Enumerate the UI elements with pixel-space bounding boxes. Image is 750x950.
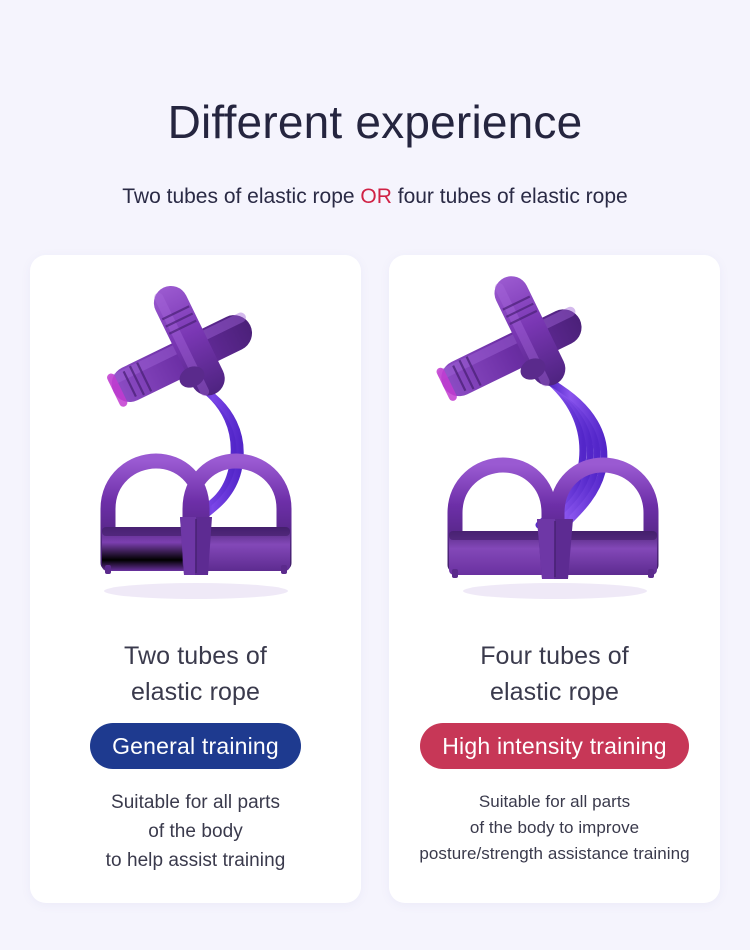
card-title-line-2: elastic rope [124, 675, 267, 711]
product-card-four-tubes[interactable]: Four tubes of elastic rope High intensit… [389, 255, 720, 903]
product-comparison-page: Different experience Two tubes of elasti… [0, 0, 750, 950]
comparison-cards: Two tubes of elastic rope General traini… [30, 255, 720, 903]
product-image-two-tubes [46, 273, 346, 633]
card-title-line-1: Four tubes of [480, 639, 629, 675]
badge-high-intensity-training[interactable]: High intensity training [420, 723, 689, 769]
subtitle-text-before: Two tubes of elastic rope [122, 185, 360, 208]
card-title-line-2: elastic rope [480, 675, 629, 711]
page-title: Different experience [0, 97, 750, 148]
product-card-two-tubes[interactable]: Two tubes of elastic rope General traini… [30, 255, 361, 903]
product-image-four-tubes [405, 273, 705, 633]
card-description-four-tubes: Suitable for all parts of the body to im… [411, 789, 697, 866]
subtitle-or-highlight: OR [360, 185, 392, 208]
badge-general-training[interactable]: General training [90, 723, 301, 769]
center-connector [537, 519, 573, 579]
subtitle-text-after: four tubes of elastic rope [392, 185, 628, 208]
desc-line-3: to help assist training [106, 847, 286, 876]
desc-line-1: Suitable for all parts [419, 789, 689, 815]
card-title-two-tubes: Two tubes of elastic rope [124, 639, 267, 710]
card-title-line-1: Two tubes of [124, 639, 267, 675]
card-title-four-tubes: Four tubes of elastic rope [480, 639, 629, 710]
page-header: Different experience Two tubes of elasti… [0, 0, 750, 209]
desc-line-2: of the body to improve [419, 815, 689, 841]
desc-line-2: of the body [106, 818, 286, 847]
center-connector [180, 517, 212, 575]
desc-line-3: posture/strength assistance training [419, 841, 689, 867]
page-subtitle: Two tubes of elastic rope OR four tubes … [0, 184, 750, 209]
desc-line-1: Suitable for all parts [106, 789, 286, 818]
card-description-two-tubes: Suitable for all parts of the body to he… [98, 789, 294, 876]
